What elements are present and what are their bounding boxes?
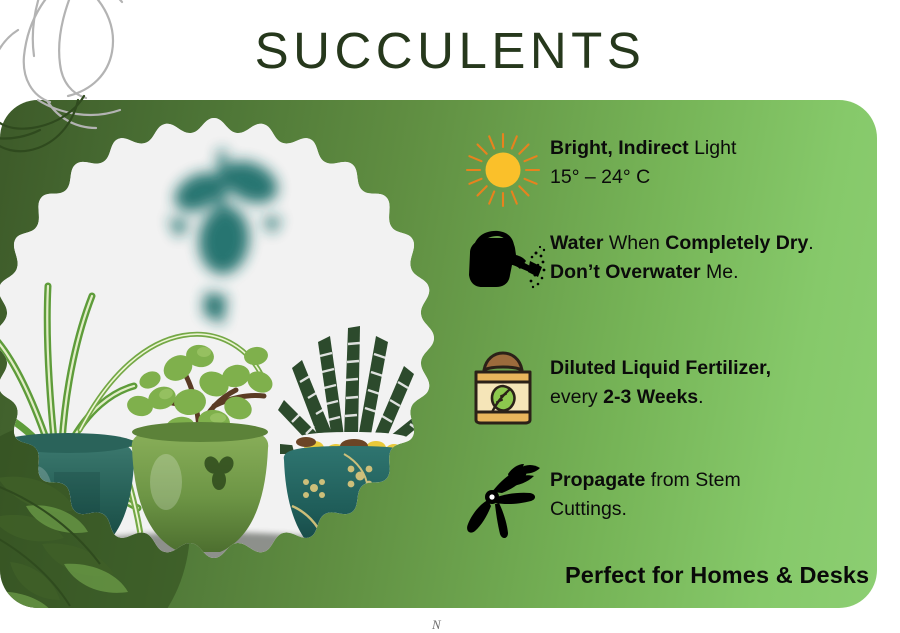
care-row-fertilizer: Diluted Liquid Fertilizer, every 2-3 Wee… [455, 348, 900, 460]
watering-can-icon [455, 223, 550, 291]
care-text-water: Water When Completely Dry. Don’t Overwat… [550, 223, 900, 287]
light-bold-1: Bright, Indirect [550, 137, 689, 159]
succulents-photo [0, 110, 467, 610]
fert-rest-2: every [550, 386, 603, 408]
fert-end-2: . [698, 386, 703, 408]
care-row-propagate: Propagate from Stem Cuttings. [455, 460, 900, 556]
fert-bold-1: Diluted Liquid Fertilizer, [550, 357, 771, 379]
page-title: SUCCULENTS [255, 25, 646, 76]
prop-bold-1: Propagate [550, 469, 645, 491]
care-text-propagate: Propagate from Stem Cuttings. [550, 460, 900, 524]
water-end-1: . [808, 232, 813, 254]
water-bold-1: Water [550, 232, 603, 254]
care-row-light: Bright, Indirect Light 15° – 24° C [455, 128, 900, 223]
care-text-light: Bright, Indirect Light 15° – 24° C [550, 128, 900, 192]
succulents-photo-medallion [0, 110, 467, 610]
succulents-infographic-poster: SUCCULENTS [0, 0, 900, 633]
care-text-fertilizer: Diluted Liquid Fertilizer, every 2-3 Wee… [550, 348, 900, 412]
water-mid-1: When [603, 232, 665, 254]
care-instruction-list: Bright, Indirect Light 15° – 24° C [455, 128, 900, 556]
pruning-shears-icon [455, 460, 550, 542]
light-rest-2: 15° – 24° C [550, 166, 650, 188]
water-rest-2: Me. [701, 261, 739, 283]
fert-bold-2: 2-3 Weeks [603, 386, 698, 408]
watermark: N [432, 617, 441, 633]
prop-rest-2: Cuttings. [550, 498, 627, 520]
care-row-water: Water When Completely Dry. Don’t Overwat… [455, 223, 900, 348]
prop-rest-1: from Stem [645, 469, 740, 491]
poster-header: SUCCULENTS [0, 0, 900, 100]
water-bold-3: Don’t Overwater [550, 261, 701, 283]
fertilizer-bag-icon [455, 348, 550, 426]
water-bold-2: Completely Dry [665, 232, 808, 254]
sun-icon [455, 128, 550, 210]
tagline: Perfect for Homes & Desks [565, 562, 869, 589]
light-rest-1: Light [689, 137, 737, 159]
